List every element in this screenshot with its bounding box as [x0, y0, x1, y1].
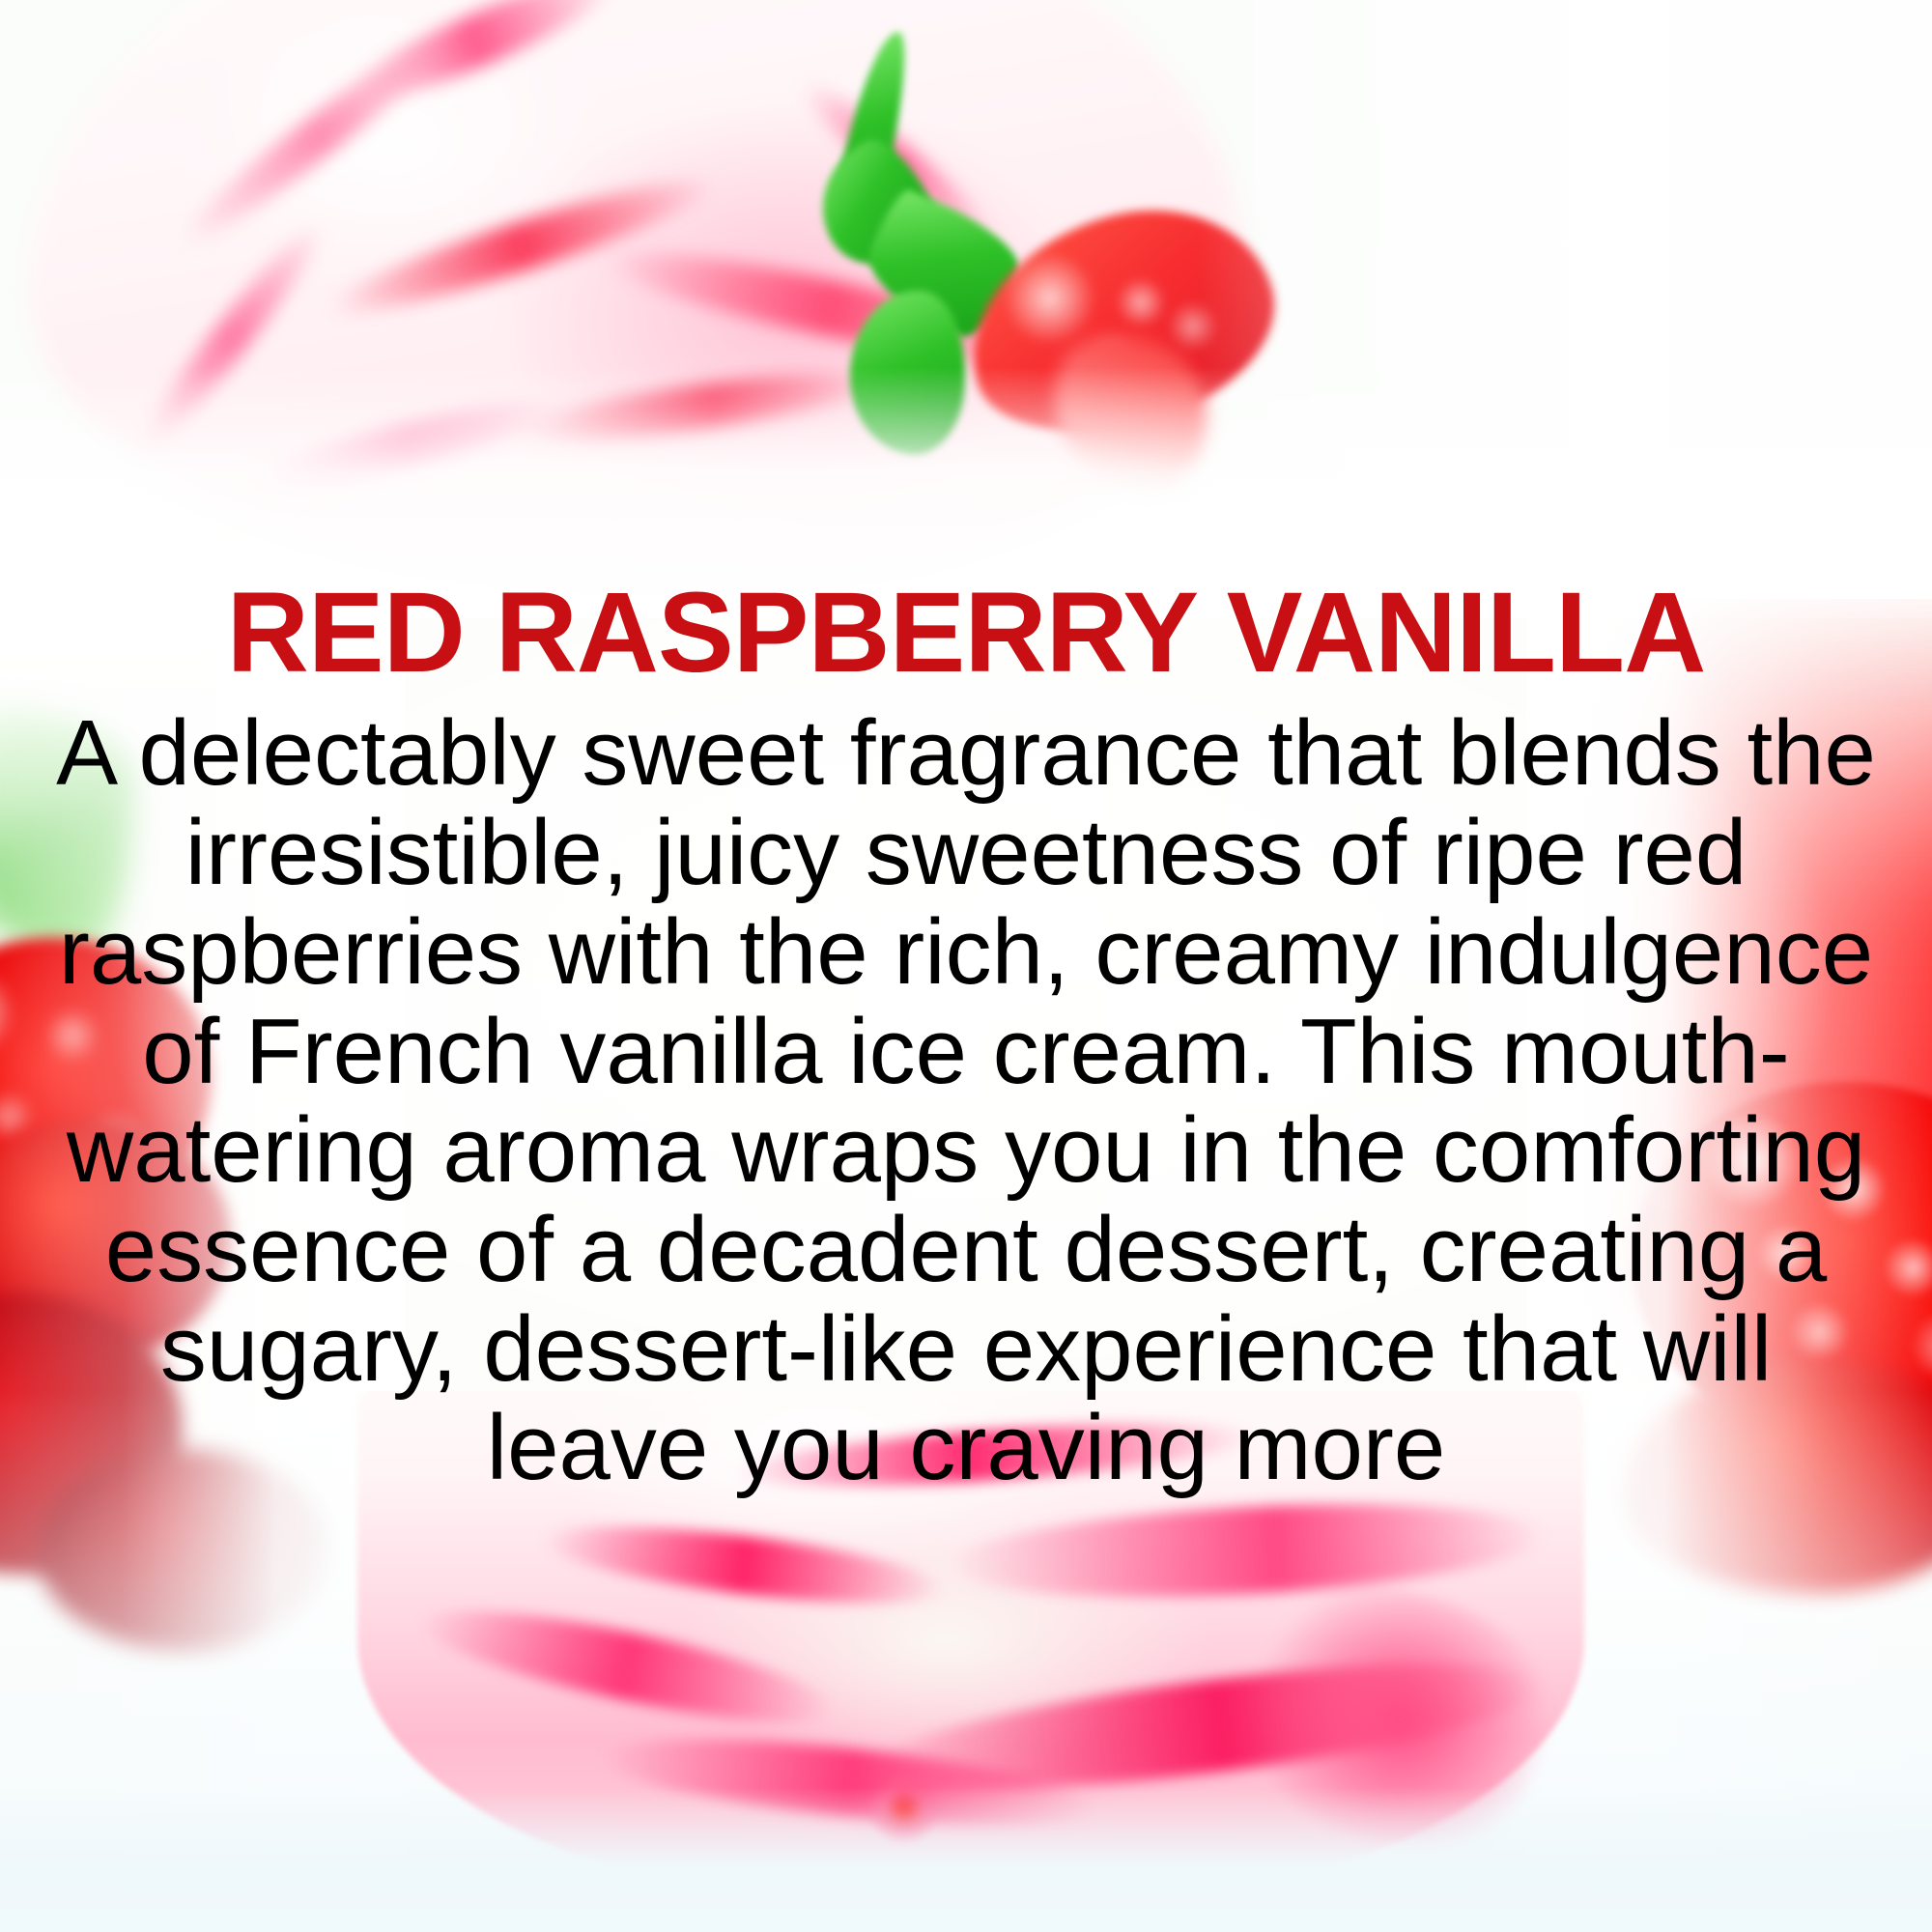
page-title: RED RASPBERRY VANILLA	[0, 575, 1932, 691]
fragrance-description: A delectably sweet fragrance that blends…	[25, 704, 1907, 1498]
text-content: RED RASPBERRY VANILLA A delectably sweet…	[0, 575, 1932, 1498]
product-fragrance-card: RED RASPBERRY VANILLA A delectably sweet…	[0, 0, 1932, 1932]
table-surface	[0, 1787, 1932, 1932]
top-photo-ice-cream-scoop	[0, 0, 1932, 618]
